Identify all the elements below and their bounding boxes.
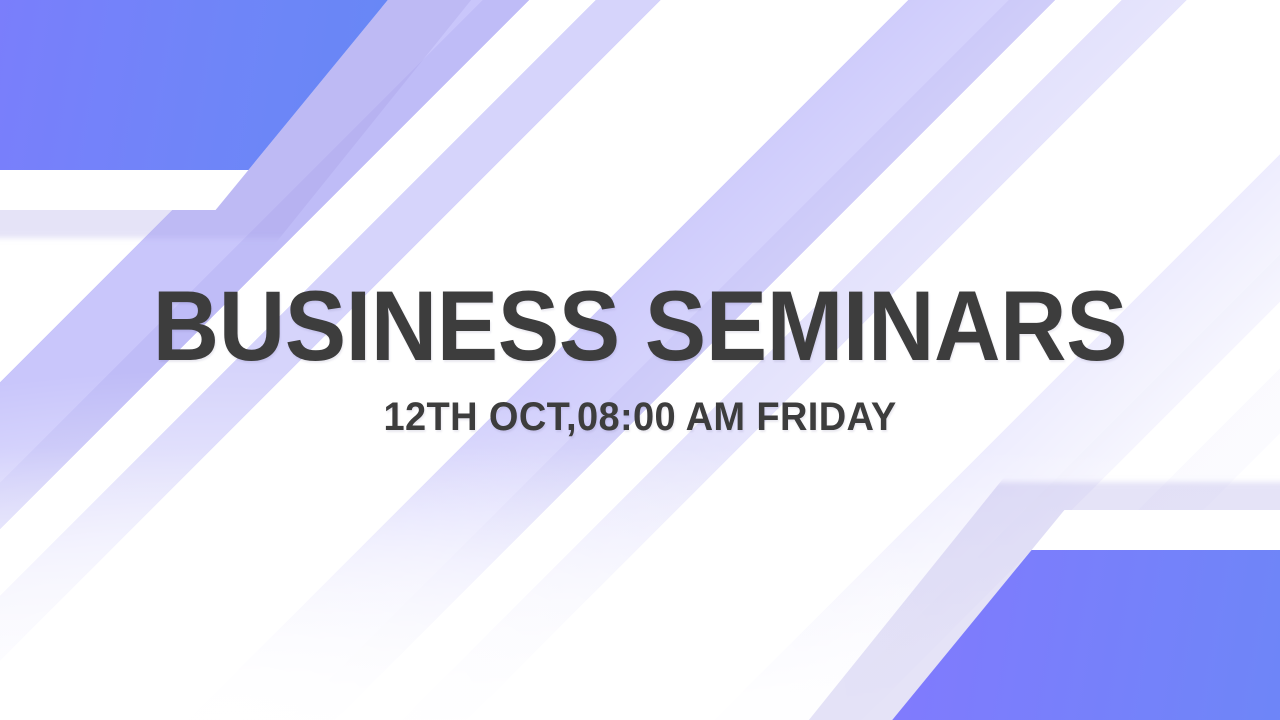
event-poster: BUSINESS SEMINARS 12TH OCT,08:00 AM FRID… (0, 0, 1280, 720)
poster-title: BUSINESS SEMINARS (153, 276, 1127, 375)
poster-subtitle: 12TH OCT,08:00 AM FRIDAY (383, 397, 896, 437)
poster-content: BUSINESS SEMINARS 12TH OCT,08:00 AM FRID… (0, 0, 1280, 720)
